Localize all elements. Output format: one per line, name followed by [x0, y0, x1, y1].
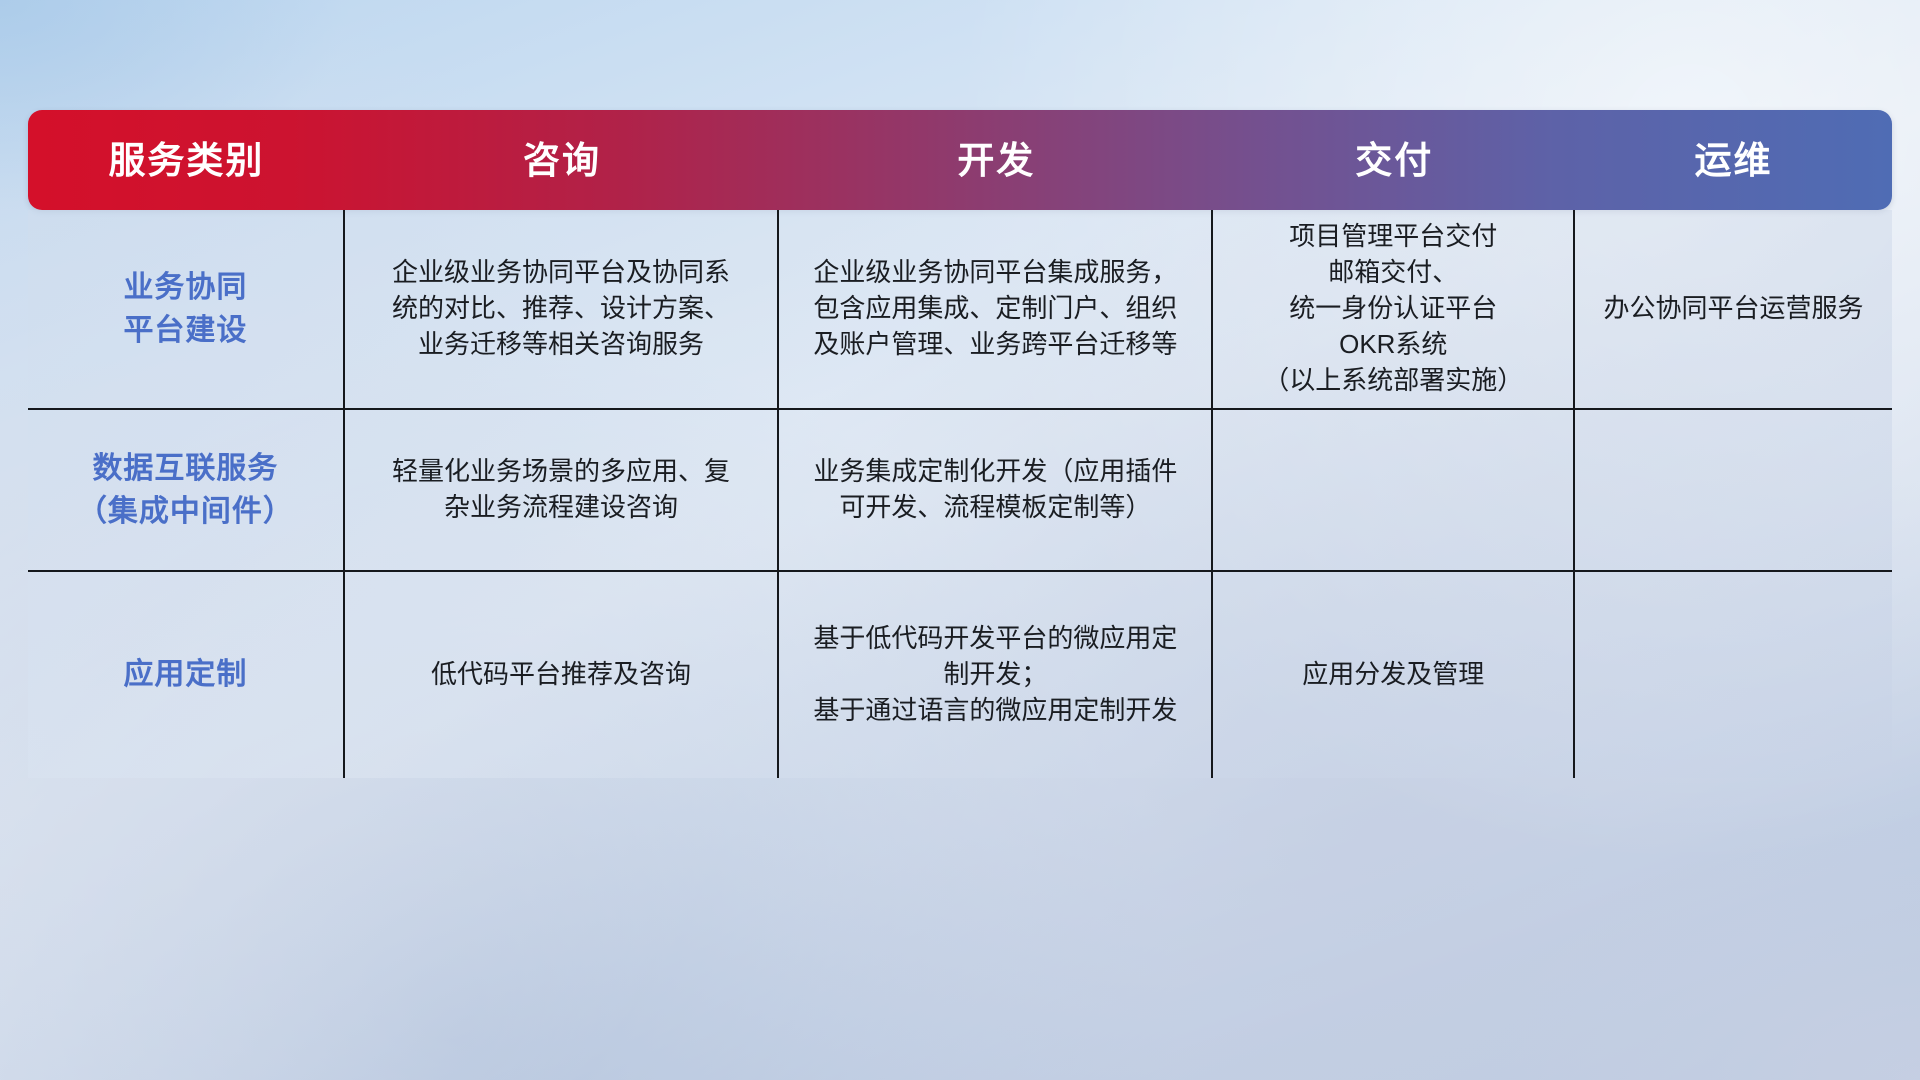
cell-delivery [1213, 410, 1575, 570]
table-body: 业务协同 平台建设 企业级业务协同平台及协同系 统的对比、推荐、设计方案、 业务… [28, 210, 1892, 778]
cell-development: 企业级业务协同平台集成服务， 包含应用集成、定制门户、组织 及账户管理、业务跨平… [779, 210, 1213, 408]
column-header-operations: 运维 [1575, 110, 1892, 210]
service-matrix-table: 服务类别 咨询 开发 交付 运维 业务协同 平台建设 企业级业务协同平台及协同系… [28, 110, 1892, 780]
cell-delivery: 应用分发及管理 [1213, 572, 1575, 778]
cell-delivery: 项目管理平台交付 邮箱交付、 统一身份认证平台 OKR系统 （以上系统部署实施） [1213, 210, 1575, 408]
row-category-label: 业务协同 平台建设 [28, 210, 345, 408]
column-header-development: 开发 [779, 110, 1213, 210]
table-row: 应用定制 低代码平台推荐及咨询 基于低代码开发平台的微应用定 制开发； 基于通过… [28, 572, 1892, 778]
cell-operations: 办公协同平台运营服务 [1575, 210, 1892, 408]
row-category-label: 应用定制 [28, 572, 345, 778]
column-header-consulting: 咨询 [345, 110, 779, 210]
cell-consulting: 低代码平台推荐及咨询 [345, 572, 779, 778]
cell-development: 基于低代码开发平台的微应用定 制开发； 基于通过语言的微应用定制开发 [779, 572, 1213, 778]
row-category-label: 数据互联服务 （集成中间件） [28, 410, 345, 570]
table-row: 业务协同 平台建设 企业级业务协同平台及协同系 统的对比、推荐、设计方案、 业务… [28, 210, 1892, 410]
table-header-row: 服务类别 咨询 开发 交付 运维 [28, 110, 1892, 210]
cell-consulting: 企业级业务协同平台及协同系 统的对比、推荐、设计方案、 业务迁移等相关咨询服务 [345, 210, 779, 408]
cell-operations [1575, 572, 1892, 778]
cell-operations [1575, 410, 1892, 570]
table-row: 数据互联服务 （集成中间件） 轻量化业务场景的多应用、复 杂业务流程建设咨询 业… [28, 410, 1892, 572]
column-header-category: 服务类别 [28, 110, 345, 210]
column-header-delivery: 交付 [1213, 110, 1575, 210]
cell-consulting: 轻量化业务场景的多应用、复 杂业务流程建设咨询 [345, 410, 779, 570]
cell-development: 业务集成定制化开发（应用插件 可开发、流程模板定制等） [779, 410, 1213, 570]
